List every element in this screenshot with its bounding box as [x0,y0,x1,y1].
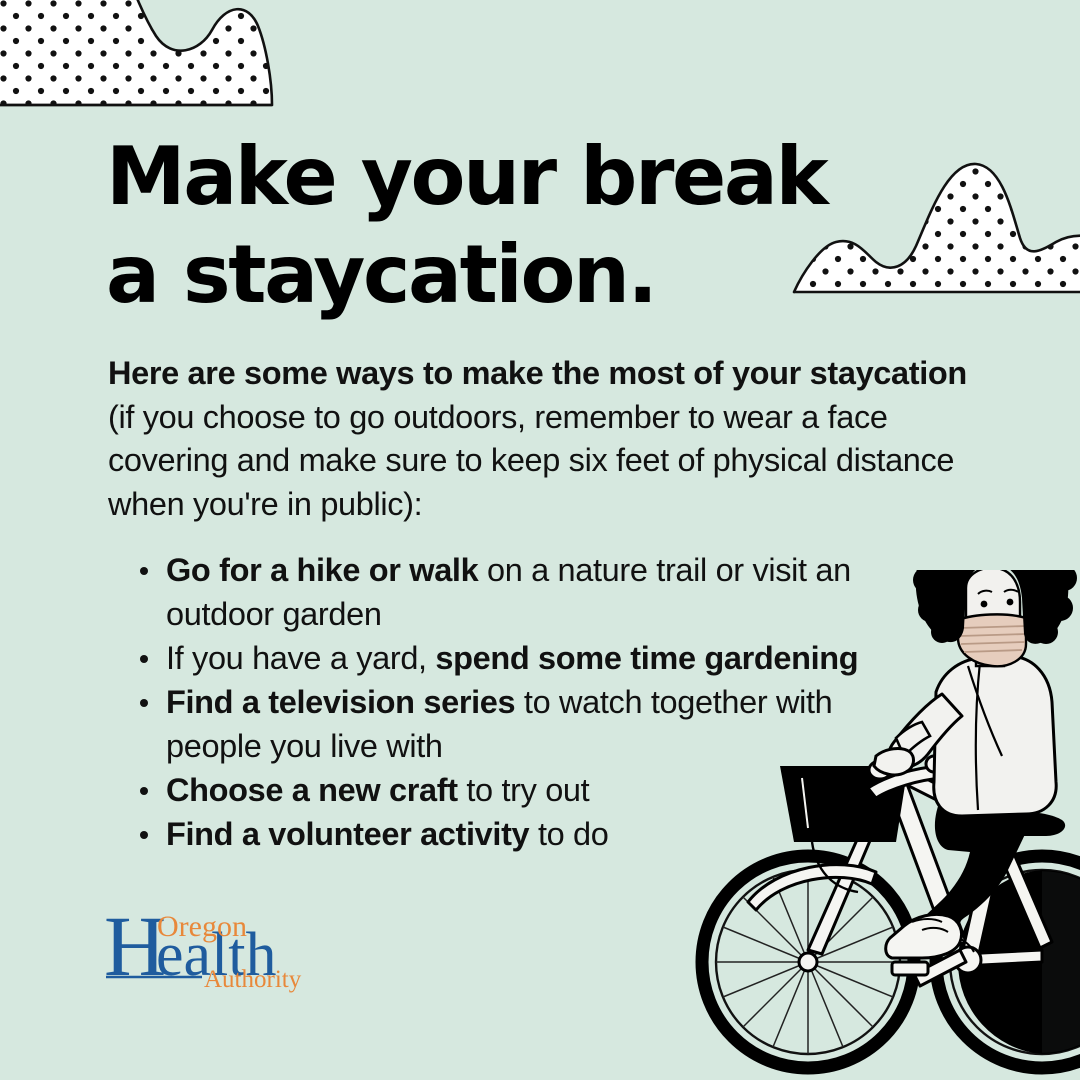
face-mask-icon [952,614,1026,666]
logo-word-authority: Authority [204,966,302,993]
oregon-health-authority-logo: H ealth Oregon Authority [104,903,314,995]
tip-rest: to do [529,816,608,852]
poster-canvas: Make your break a staycation. Here are s… [0,0,1080,1080]
rear-wheel [936,856,1080,1068]
rider-face [966,570,1020,656]
rider-shoe [886,914,962,958]
tip-bold: Go for a hike or walk [166,552,478,588]
list-item: Find a television series to watch togeth… [132,680,902,768]
rider-eye-right [1007,599,1014,606]
rider-jacket [934,656,1056,816]
tip-bold: Find a volunteer activity [166,816,529,852]
staycation-tips-list: Go for a hike or walk on a nature trail … [132,548,902,856]
poster-headline: Make your break a staycation. [106,128,966,323]
crank-and-pedal [892,934,981,986]
headline-line-2: a staycation. [106,226,966,324]
rider [874,570,1077,958]
tip-bold: Choose a new craft [166,772,458,808]
dotted-cloud-top-left-icon [0,0,280,110]
intro-rest: (if you choose to go outdoors, remember … [108,399,954,522]
logo-word-oregon: Oregon [157,910,247,943]
list-item: Find a volunteer activity to do [132,812,902,856]
tip-rest: to try out [458,772,590,808]
list-item: If you have a yard, spend some time gard… [132,636,902,680]
intro-paragraph: Here are some ways to make the most of y… [108,352,998,526]
intro-lead: Here are some ways to make the most of y… [108,355,967,391]
rider-eye-left [981,601,988,608]
rider-pants [908,794,1029,948]
tip-bold: Find a television series [166,684,515,720]
bicycle-saddle [974,812,1065,836]
list-item: Choose a new craft to try out [132,768,902,812]
headline-line-1: Make your break [106,128,966,226]
front-wheel [702,856,914,1068]
list-item: Go for a hike or walk on a nature trail … [132,548,902,636]
tip-bold: spend some time gardening [435,640,858,676]
rider-afro-hair [916,570,1069,644]
tip-pre: If you have a yard, [166,640,435,676]
